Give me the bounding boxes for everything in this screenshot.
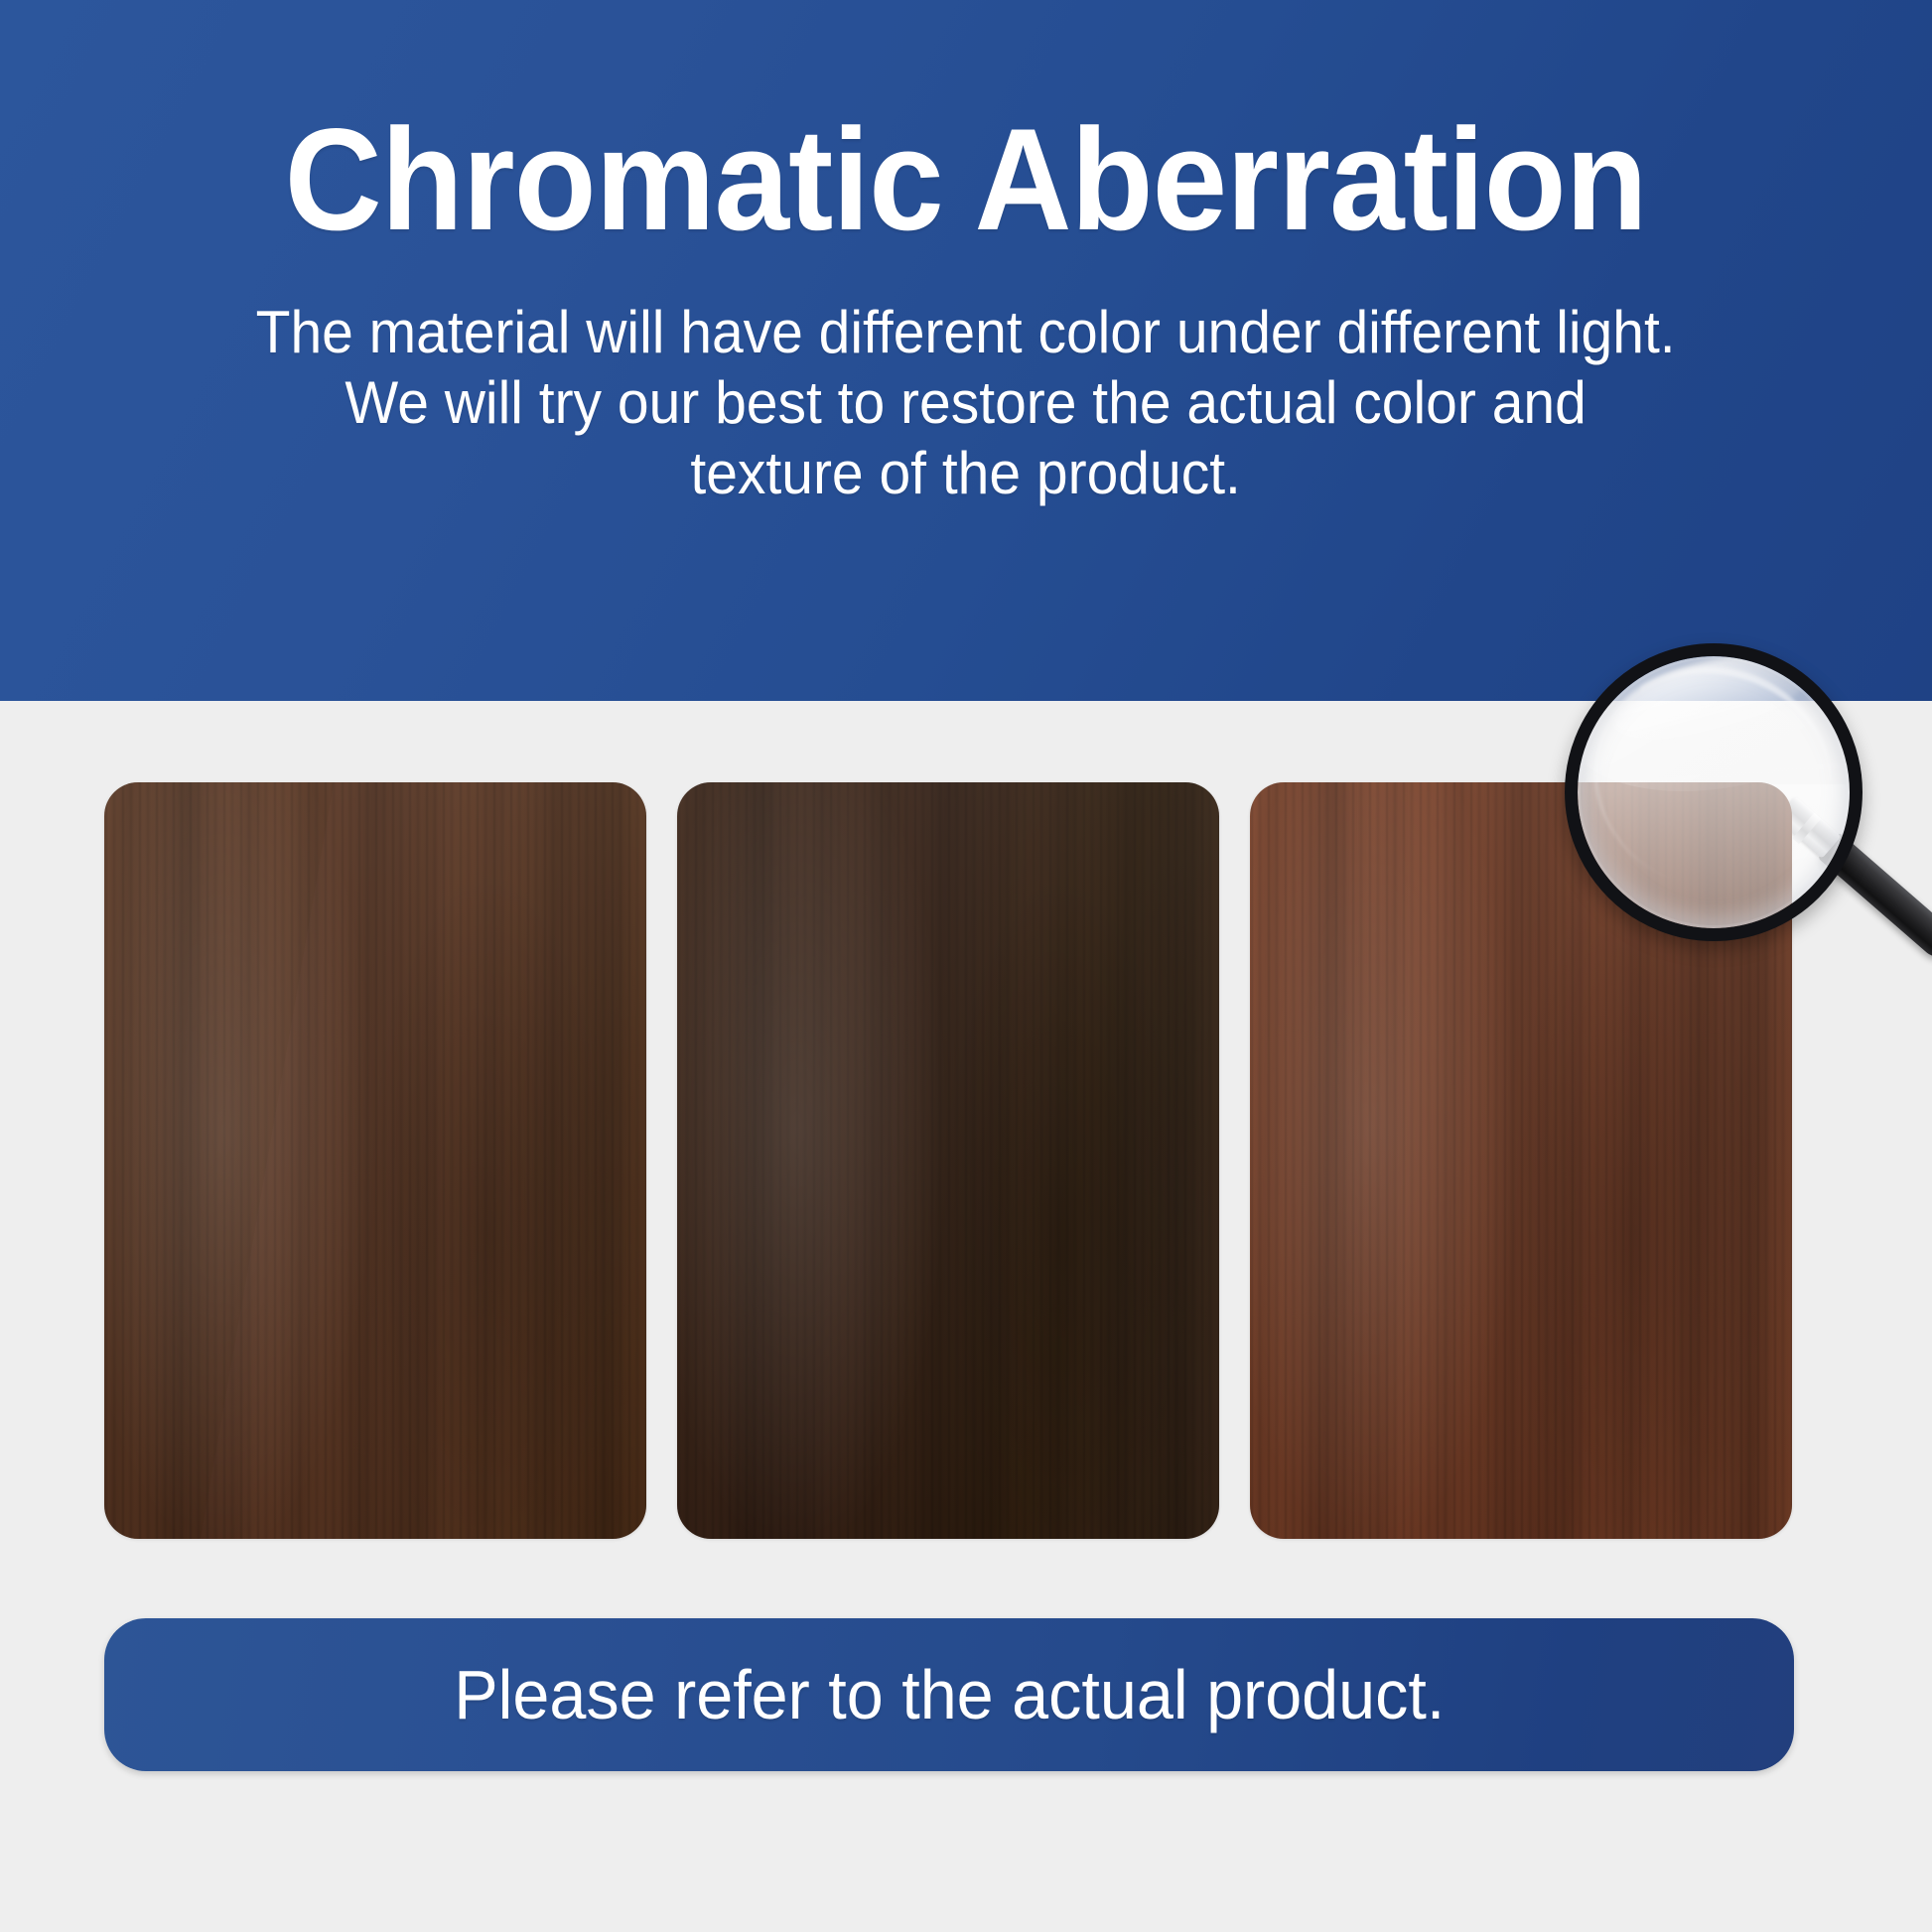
magnifier-grip — [1818, 832, 1932, 962]
magnifier-ferrule-band — [1792, 813, 1821, 845]
page-title: Chromatic Aberration — [285, 107, 1647, 252]
refer-to-actual-product-button[interactable]: Please refer to the actual product. — [104, 1618, 1794, 1771]
wood-grain-texture — [1250, 782, 1792, 1539]
wood-grain-texture — [677, 782, 1219, 1539]
lens-view-background — [1578, 701, 1850, 784]
promo-banner: Chromatic Aberration The material will h… — [0, 0, 1932, 1932]
swatch-row — [104, 782, 1792, 1539]
subtitle-line-1: The material will have different color u… — [256, 298, 1676, 368]
cta-label: Please refer to the actual product. — [454, 1655, 1445, 1734]
wood-grain-texture — [104, 782, 646, 1539]
subtitle-line-3: texture of the product. — [256, 439, 1676, 509]
magnifier-handle — [1774, 794, 1932, 960]
header-subtitle: The material will have different color u… — [256, 298, 1676, 508]
header-banner: Chromatic Aberration The material will h… — [0, 0, 1932, 701]
swatch-espresso-dark[interactable] — [677, 782, 1219, 1539]
subtitle-line-2: We will try our best to restore the actu… — [256, 368, 1676, 439]
swatch-mahogany-red[interactable] — [1250, 782, 1792, 1539]
header-content: Chromatic Aberration The material will h… — [0, 0, 1932, 701]
swatch-walnut-medium[interactable] — [104, 782, 646, 1539]
